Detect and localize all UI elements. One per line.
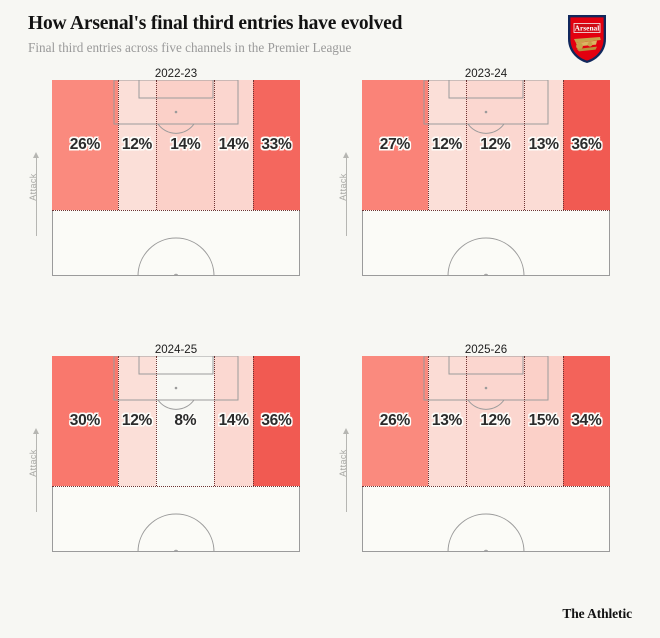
channel-left-halfspace[interactable]: 13% [428, 356, 466, 486]
channel-value: 36% [253, 412, 300, 430]
channel-divider [428, 80, 429, 210]
channel-value: 14% [156, 136, 214, 154]
channel-divider [428, 356, 429, 486]
pitch-diagram: 26% 12% 14% 14% 33% [52, 80, 300, 276]
channel-value: 8% [156, 412, 214, 430]
channel-right-wing[interactable]: 36% [563, 80, 610, 210]
channel-right-halfspace[interactable]: 14% [214, 356, 252, 486]
attack-axis: Attack [24, 428, 46, 512]
channel-left-wing[interactable]: 26% [52, 80, 118, 210]
crest-wordmark: Arsenal [575, 24, 600, 33]
channel-divider [563, 80, 564, 210]
channel-value: 12% [118, 136, 156, 154]
axis-label: Attack [338, 437, 348, 489]
channel-value: 13% [524, 136, 562, 154]
channel-value: 15% [524, 412, 562, 430]
channel-divider [466, 356, 467, 486]
channel-divider [156, 80, 157, 210]
channel-right-wing[interactable]: 34% [563, 356, 610, 486]
channel-value: 33% [253, 136, 300, 154]
channel-divider [118, 80, 119, 210]
channel-divider [118, 356, 119, 486]
page-subtitle: Final third entries across five channels… [28, 40, 548, 56]
channel-value: 13% [428, 412, 466, 430]
panel-2023-24: 2023-24 Attack 27% 12% 12% 13% 36% [310, 68, 630, 318]
attack-axis: Attack [334, 428, 356, 512]
final-third-channels: 26% 12% 14% 14% 33% [52, 80, 300, 210]
season-label: 2022-23 [52, 68, 300, 80]
channel-left-wing[interactable]: 27% [362, 80, 428, 210]
channel-value: 34% [563, 412, 610, 430]
season-label: 2023-24 [362, 68, 610, 80]
channel-left-halfspace[interactable]: 12% [118, 80, 156, 210]
season-label: 2025-26 [362, 344, 610, 356]
attack-axis: Attack [24, 152, 46, 236]
panel-2024-25: 2024-25 Attack 30% 12% 8% 14% 36% [0, 344, 320, 594]
panel-2025-26: 2025-26 Attack 26% 13% 12% 15% 34% [310, 344, 630, 594]
channel-divider [214, 356, 215, 486]
final-third-line [362, 486, 610, 487]
channel-right-halfspace[interactable]: 15% [524, 356, 562, 486]
channel-divider [524, 80, 525, 210]
channel-centre[interactable]: 14% [156, 80, 214, 210]
channel-centre[interactable]: 12% [466, 80, 524, 210]
channel-right-wing[interactable]: 36% [253, 356, 300, 486]
axis-label: Attack [28, 437, 38, 489]
pitch-diagram: 27% 12% 12% 13% 36% [362, 80, 610, 276]
arsenal-crest-icon: Arsenal [566, 13, 608, 65]
chart-header: How Arsenal's final third entries have e… [28, 12, 548, 56]
channel-divider [253, 80, 254, 210]
channel-value: 27% [362, 136, 428, 154]
final-third-channels: 27% 12% 12% 13% 36% [362, 80, 610, 210]
season-label: 2024-25 [52, 344, 300, 356]
panel-2022-23: 2022-23 Attack 26% 12% 14% 14% 33% [0, 68, 320, 318]
channel-value: 12% [118, 412, 156, 430]
channel-divider [156, 356, 157, 486]
channel-value: 12% [428, 136, 466, 154]
channel-divider [563, 356, 564, 486]
attack-axis: Attack [334, 152, 356, 236]
channel-value: 26% [52, 136, 118, 154]
channel-value: 12% [466, 412, 524, 430]
axis-label: Attack [28, 161, 38, 213]
channel-divider [466, 80, 467, 210]
final-third-line [52, 486, 300, 487]
channel-value: 26% [362, 412, 428, 430]
channel-left-wing[interactable]: 26% [362, 356, 428, 486]
page-title: How Arsenal's final third entries have e… [28, 12, 548, 35]
channel-value: 30% [52, 412, 118, 430]
athletic-logo: The Athletic [562, 606, 632, 622]
channel-right-wing[interactable]: 33% [253, 80, 300, 210]
pitch-diagram: 26% 13% 12% 15% 34% [362, 356, 610, 552]
channel-left-halfspace[interactable]: 12% [428, 80, 466, 210]
channel-value: 36% [563, 136, 610, 154]
final-third-line [362, 210, 610, 211]
axis-label: Attack [338, 161, 348, 213]
channel-value: 14% [214, 136, 252, 154]
channel-centre[interactable]: 12% [466, 356, 524, 486]
final-third-channels: 30% 12% 8% 14% 36% [52, 356, 300, 486]
channel-divider [524, 356, 525, 486]
channel-right-halfspace[interactable]: 13% [524, 80, 562, 210]
pitch-diagram: 30% 12% 8% 14% 36% [52, 356, 300, 552]
channel-divider [214, 80, 215, 210]
channel-right-halfspace[interactable]: 14% [214, 80, 252, 210]
channel-value: 12% [466, 136, 524, 154]
channel-centre[interactable]: 8% [156, 356, 214, 486]
channel-left-wing[interactable]: 30% [52, 356, 118, 486]
channel-divider [253, 356, 254, 486]
channel-left-halfspace[interactable]: 12% [118, 356, 156, 486]
final-third-line [52, 210, 300, 211]
channel-value: 14% [214, 412, 252, 430]
final-third-channels: 26% 13% 12% 15% 34% [362, 356, 610, 486]
